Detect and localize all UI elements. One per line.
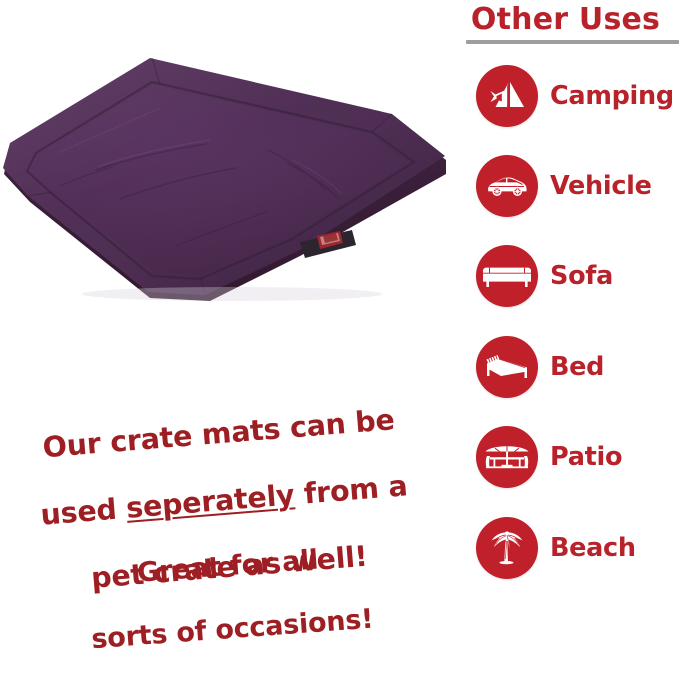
slogan-secondary-line2: sorts of occasions! [72, 602, 393, 657]
camping-badge [476, 65, 538, 127]
use-item-sofa[interactable]: Sofa [452, 238, 679, 314]
slogan-secondary: Great for all sorts of occasions! [65, 507, 396, 688]
patio-badge [476, 426, 538, 488]
use-label-beach: Beach [550, 533, 636, 563]
palm-tree-icon [484, 524, 530, 572]
mat-global-sheen [3, 58, 445, 295]
car-icon [484, 163, 530, 209]
product-image-panel [0, 0, 452, 360]
sofa-badge [476, 245, 538, 307]
use-item-beach[interactable]: Beach [452, 510, 679, 586]
use-label-camping: Camping [550, 81, 674, 111]
slogan-primary-line2-after: from a [293, 469, 409, 511]
slogan-primary-line2-before: used [39, 492, 127, 532]
use-item-bed[interactable]: Bed [452, 329, 679, 405]
bed-badge [476, 336, 538, 398]
patio-umbrella-icon [482, 434, 532, 480]
tent-icon [485, 74, 529, 118]
use-label-patio: Patio [550, 442, 622, 472]
product-photo-pet-crate-mat [0, 46, 448, 301]
other-uses-title: Other Uses [452, 2, 679, 37]
slogan-secondary-line1: Great for all [67, 539, 388, 594]
title-divider [466, 40, 679, 44]
use-label-sofa: Sofa [550, 261, 613, 291]
vehicle-badge [476, 155, 538, 217]
use-label-bed: Bed [550, 352, 604, 382]
use-label-vehicle: Vehicle [550, 171, 652, 201]
use-item-patio[interactable]: Patio [452, 419, 679, 495]
beach-badge [476, 517, 538, 579]
other-uses-panel: Other Uses Camping [452, 0, 679, 593]
use-item-vehicle[interactable]: Vehicle [452, 148, 679, 224]
bed-icon [483, 345, 531, 389]
sofa-icon [482, 253, 532, 299]
mat-drop-shadow [82, 287, 382, 301]
use-item-camping[interactable]: Camping [452, 58, 679, 134]
slogan-primary-line1: Our crate mats can be [18, 402, 419, 467]
